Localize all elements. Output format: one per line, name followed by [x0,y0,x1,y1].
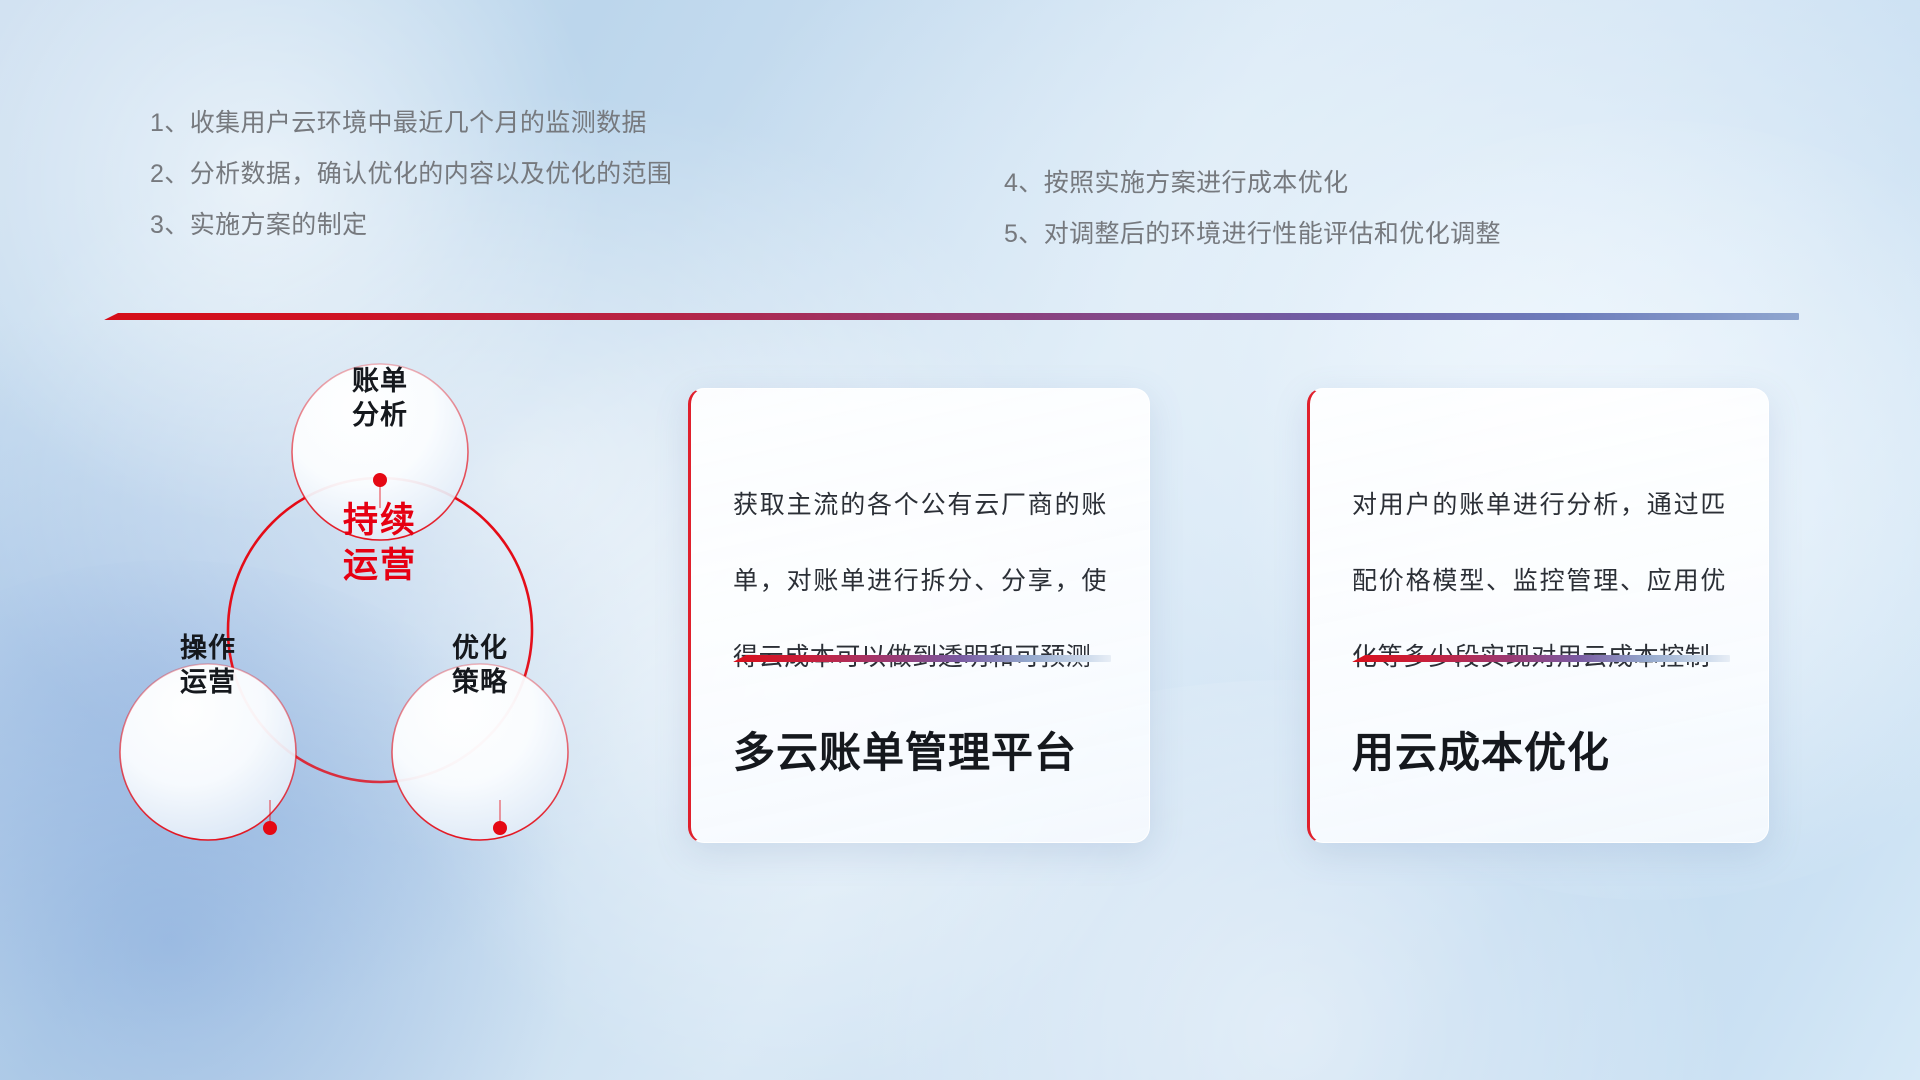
venn-label-line1: 账单 [290,364,470,398]
steps-list-left: 1、收集用户云环境中最近几个月的监测数据 2、分析数据，确认优化的内容以及优化的… [150,98,850,251]
step-item-5: 5、对调整后的环境进行性能评估和优化调整 [1004,209,1764,260]
step-item-3: 3、实施方案的制定 [150,200,850,251]
node-dot-top [373,473,387,487]
venn-label-operation-ops: 操作 运营 [118,631,298,699]
venn-label-line2: 运营 [118,665,298,699]
slide-canvas: 1、收集用户云环境中最近几个月的监测数据 2、分析数据，确认优化的内容以及优化的… [0,0,1920,1080]
card-title: 用云成本优化 [1352,719,1610,780]
venn-label-line2: 分析 [290,398,470,432]
steps-list-right: 4、按照实施方案进行成本优化 5、对调整后的环境进行性能评估和优化调整 [1004,158,1764,260]
card-title: 多云账单管理平台 [733,719,1077,780]
venn-center-label: 持续 运营 [260,498,500,588]
step-item-2: 2、分析数据，确认优化的内容以及优化的范围 [150,149,850,200]
step-item-4: 4、按照实施方案进行成本优化 [1004,158,1764,209]
venn-center-line2: 运营 [260,543,500,588]
card-multi-cloud-billing-platform[interactable]: 获取主流的各个公有云厂商的账单，对账单进行拆分、分享，使得云成本可以做到透明和可… [688,388,1150,843]
venn-label-billing-analysis: 账单 分析 [290,364,470,432]
card-divider-rule [1352,655,1730,662]
venn-label-optimization-policy: 优化 策略 [390,631,570,699]
card-cloud-cost-optimization[interactable]: 对用户的账单进行分析，通过匹配价格模型、监控管理、应用优化等多少段实现对用云成本… [1307,388,1769,843]
venn-label-line1: 操作 [118,631,298,665]
section-divider-rule [104,313,1799,320]
venn-label-line1: 优化 [390,631,570,665]
venn-center-line1: 持续 [260,498,500,543]
node-dot-right [493,821,507,835]
node-dot-left [263,821,277,835]
continuous-operation-diagram: 账单 分析 操作 运营 优化 策略 持续 运营 [100,360,660,920]
card-divider-rule [733,655,1111,662]
step-item-1: 1、收集用户云环境中最近几个月的监测数据 [150,98,850,149]
venn-label-line2: 策略 [390,665,570,699]
